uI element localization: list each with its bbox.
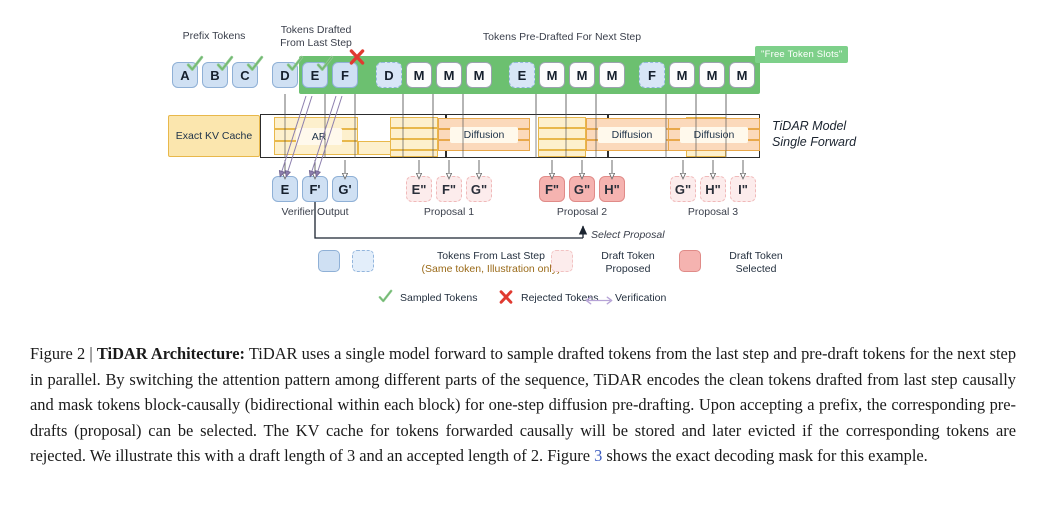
figure-caption: Figure 2 | TiDAR Architecture: TiDAR use… [30, 341, 1016, 469]
caption-figure-label: Figure 2 [30, 344, 85, 363]
connector-overlay [0, 0, 1040, 330]
caption-body-2: shows the exact decoding mask for this e… [602, 446, 927, 465]
caption-title: TiDAR Architecture: [97, 344, 245, 363]
tidar-architecture-figure: "Free Token Slots" Prefix Tokens Tokens … [0, 0, 1040, 330]
figure-page: "Free Token Slots" Prefix Tokens Tokens … [0, 0, 1040, 532]
caption-separator: | [85, 344, 97, 363]
